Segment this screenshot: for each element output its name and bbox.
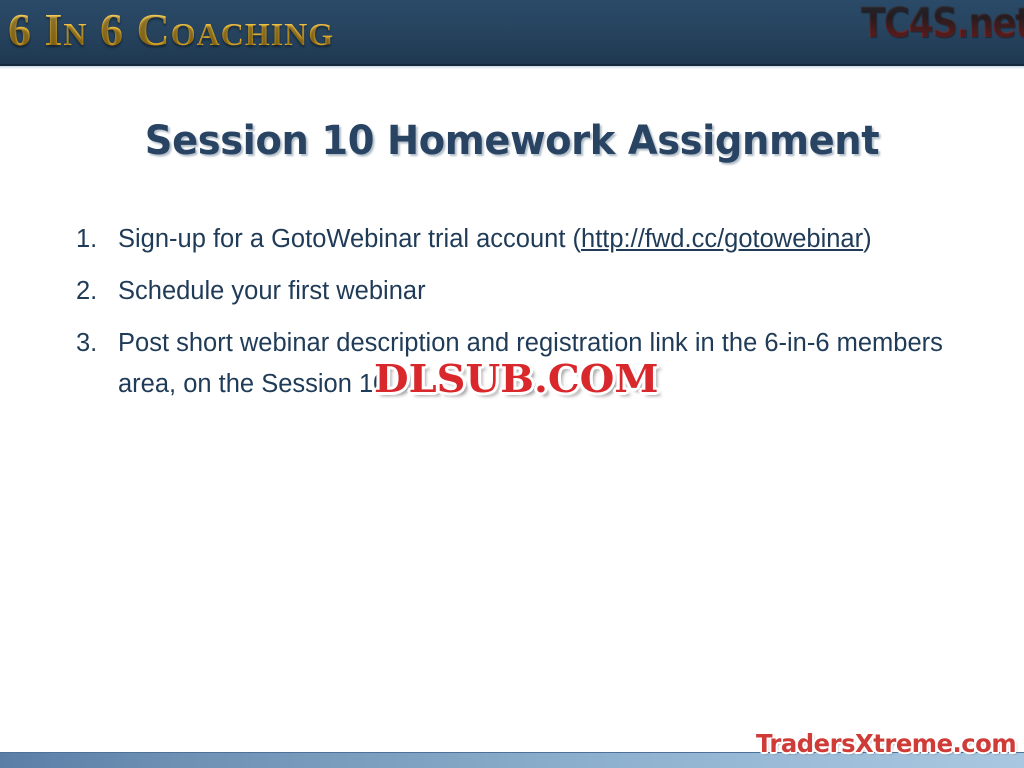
list-item-text: Schedule your first webinar bbox=[118, 271, 976, 312]
list-item-number: 3. bbox=[76, 323, 118, 364]
list-item-text-before: Sign-up for a GotoWebinar trial account … bbox=[118, 225, 581, 253]
list-item-text-after: ) bbox=[863, 225, 872, 253]
list-item-number: 2. bbox=[76, 271, 118, 312]
presentation-slide: 6 In 6 Coaching TC4S.net Session 10 Home… bbox=[0, 0, 1024, 768]
slide-header-banner: 6 In 6 Coaching TC4S.net bbox=[0, 0, 1024, 66]
tc4s-site-badge: TC4S.net bbox=[860, 0, 1024, 47]
tradersxtreme-footer-brand: TradersXtreme.com bbox=[756, 729, 1016, 758]
header-divider-line bbox=[0, 66, 1024, 69]
page-title: Session 10 Homework Assignment bbox=[20, 118, 1003, 164]
list-item-number: 1. bbox=[76, 219, 118, 260]
list-item: 1. Sign-up for a GotoWebinar trial accou… bbox=[76, 219, 976, 260]
coaching-brand-logo: 6 In 6 Coaching bbox=[8, 3, 334, 56]
list-item-text: Sign-up for a GotoWebinar trial account … bbox=[118, 219, 976, 260]
list-item: 2. Schedule your first webinar bbox=[76, 271, 976, 312]
dlsub-watermark: DLSUB.COM bbox=[374, 356, 659, 401]
gotowebinar-trial-link[interactable]: http://fwd.cc/gotowebinar bbox=[581, 225, 863, 253]
